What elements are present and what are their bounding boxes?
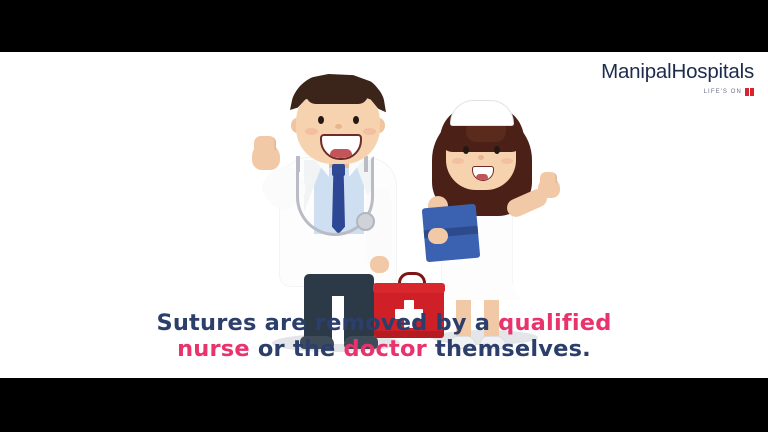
- manipal-badge-icon: [745, 88, 754, 96]
- doctor-eye-left: [318, 116, 324, 124]
- caption-text: Sutures are removed by a qualified nurse…: [0, 310, 768, 362]
- nurse-eye-left: [463, 146, 469, 154]
- caption-line2-plain-after: themselves.: [427, 336, 591, 362]
- logo-tagline-row: LIFE'S ON: [601, 88, 754, 96]
- stethoscope-bell-icon: [356, 212, 375, 231]
- doctor-eye-right: [353, 116, 359, 124]
- slide-canvas: ManipalHospitals LIFE'S ON: [0, 52, 768, 378]
- doctor-waving-hand: [252, 144, 280, 170]
- letterbox-bar-bottom: [0, 378, 768, 432]
- nurse-blush-right: [501, 158, 513, 164]
- logo-wordmark: ManipalHospitals: [601, 62, 754, 83]
- doctor-nose: [335, 124, 342, 129]
- nurse-hand-left: [428, 228, 448, 244]
- caption-line-2: nurse or the doctor themselves.: [0, 336, 768, 362]
- logo-tagline: LIFE'S ON: [704, 89, 742, 95]
- doctor-tongue: [330, 149, 352, 158]
- caption-highlight-doctor: doctor: [344, 336, 427, 362]
- caption-highlight-qualified: qualified: [498, 310, 611, 336]
- caption-line1-plain: Sutures are removed by a: [156, 310, 498, 336]
- caption-line-1: Sutures are removed by a qualified: [0, 310, 768, 336]
- nurse-tongue: [476, 174, 488, 180]
- doctor-hair-fringe: [306, 78, 368, 104]
- manipal-hospitals-logo: ManipalHospitals LIFE'S ON: [601, 62, 754, 96]
- nurse-waving-hand: [538, 178, 560, 198]
- doctor-blush-right: [363, 128, 376, 135]
- nurse-cap-icon: [450, 100, 514, 126]
- doctor-hand-right: [370, 256, 389, 273]
- first-aid-bag-lid: [373, 283, 445, 293]
- caption-highlight-nurse: nurse: [177, 336, 250, 362]
- caption-line2-plain-mid: or the: [250, 336, 344, 362]
- video-frame: ManipalHospitals LIFE'S ON: [0, 0, 768, 432]
- letterbox-bar-top: [0, 0, 768, 52]
- nurse-nose: [478, 155, 484, 160]
- nurse-blush-left: [452, 158, 464, 164]
- doctor-blush-left: [305, 128, 318, 135]
- nurse-eye-right: [494, 146, 500, 154]
